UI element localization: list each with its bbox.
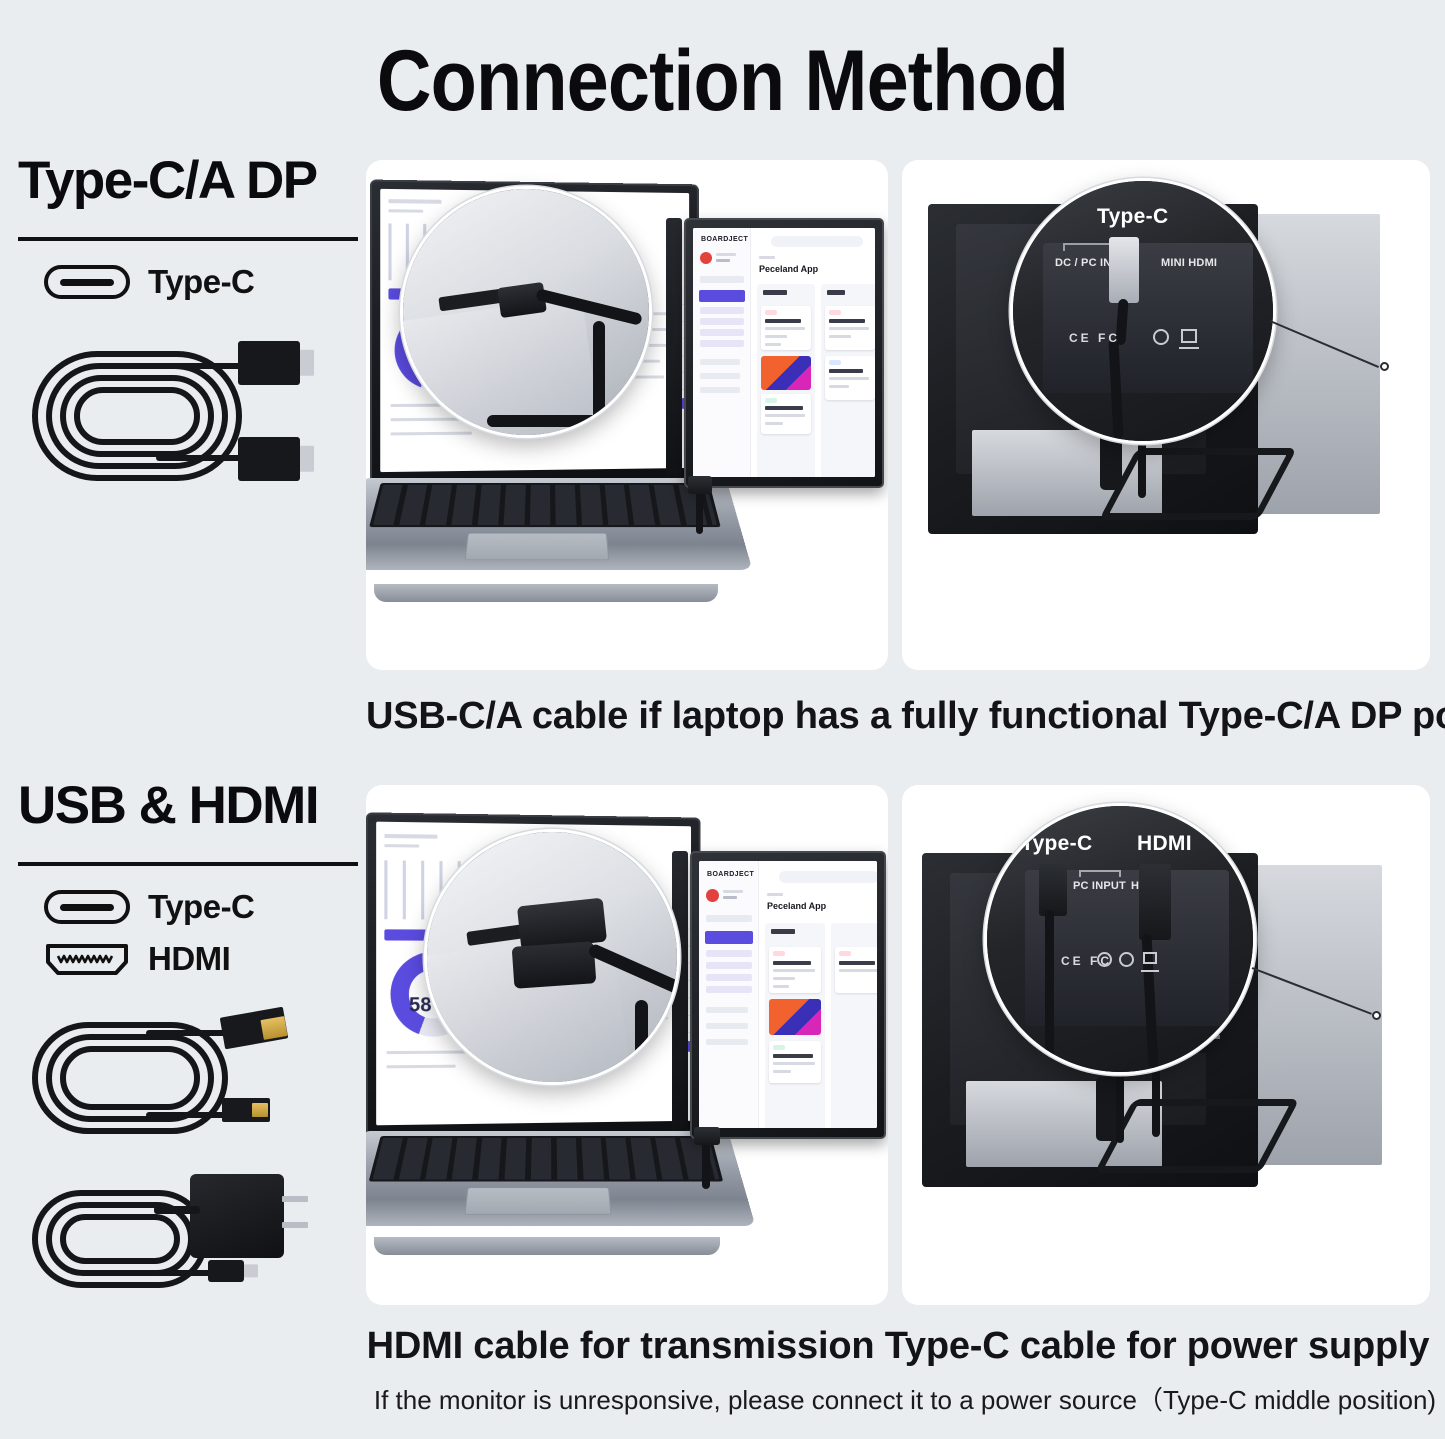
section-2-heading: USB & HDMI: [18, 775, 358, 836]
photo-monitor-rear-typec: Type-C DC / PC IN MINI HDMI CE FC: [902, 160, 1430, 670]
port-row-hdmi: HDMI: [18, 940, 358, 978]
cert-marks: CE FC: [1069, 331, 1120, 345]
section-1-caption: USB-C/A cable if laptop has a fully func…: [366, 695, 1430, 738]
section-2-divider: [18, 862, 358, 866]
port-mark-pc-input: PC INPUT: [1073, 880, 1126, 892]
hdmi-cable-illustration: [18, 1004, 358, 1154]
zoom-label-hdmi: HDMI: [1137, 832, 1192, 856]
section-usb-and-hdmi: USB & HDMI Type-C HDMI: [0, 775, 1445, 1435]
port-mark-dc-pc-in: DC / PC IN: [1055, 257, 1111, 269]
photo-laptop-monitor-hdmi: 58%: [366, 785, 888, 1305]
zoom-target-dot: [1372, 1011, 1381, 1020]
app-brand: BOARDJECT: [701, 236, 748, 243]
port-row-type-c: Type-C: [18, 263, 358, 301]
photo-laptop-monitor-typec: 58%: [366, 160, 888, 670]
port-mark-mini-hdmi: MINI HDMI: [1161, 257, 1217, 269]
zoom-target-dot: [1380, 362, 1389, 371]
section-2-caption: HDMI cable for transmission Type-C cable…: [366, 1325, 1430, 1368]
section-2-port-list: Type-C HDMI: [18, 888, 358, 978]
zoom-bubble-laptop-port: [400, 186, 652, 438]
port-row-type-c: Type-C: [18, 888, 358, 926]
zoom-label-type-c: Type-C: [1021, 832, 1092, 856]
boardject-app-ui: BOARDJECT: [693, 228, 875, 477]
section-2-subcaption: If the monitor is unresponsive, please c…: [366, 1380, 1444, 1417]
section-1-port-list: Type-C: [18, 263, 358, 301]
zoom-bubble-rear-ports-typec: Type-C DC / PC IN MINI HDMI CE FC: [1010, 178, 1276, 444]
photo-monitor-rear-typec-hdmi: Type-C HDMI PC INPUT H CE FC: [902, 785, 1430, 1305]
port-label-type-c: Type-C: [148, 888, 254, 926]
portable-monitor-screen: BOARDJECT: [684, 218, 884, 488]
section-1-heading: Type-C/A DP: [18, 150, 358, 211]
section-type-c-a-dp: Type-C/A DP Type-C: [0, 150, 1445, 770]
boardject-app-ui: BOARDJECT: [699, 861, 877, 1128]
zoom-bubble-laptop-usb-plug: [424, 829, 680, 1085]
port-mark-hdmi-short: H: [1131, 880, 1139, 892]
section-1-divider: [18, 237, 358, 241]
app-brand: BOARDJECT: [707, 871, 754, 878]
type-c-port-icon: [44, 265, 130, 299]
usb-c-cable-illustration: [18, 327, 358, 517]
page-title: Connection Method: [87, 0, 1359, 124]
port-label-hdmi: HDMI: [148, 940, 230, 978]
section-1-sidebar: Type-C/A DP Type-C: [18, 150, 358, 517]
power-adapter-illustration: [18, 1164, 358, 1304]
infographic-board: Connection Method Type-C/A DP Type-C: [0, 0, 1445, 1439]
port-label-type-c: Type-C: [148, 263, 254, 301]
hdmi-port-icon: [44, 940, 130, 978]
type-c-port-icon: [44, 890, 130, 924]
zoom-bubble-rear-ports-typec-hdmi: Type-C HDMI PC INPUT H CE FC: [984, 803, 1256, 1075]
board-title: Peceland App: [759, 264, 818, 274]
section-2-sidebar: USB & HDMI Type-C HDMI: [18, 775, 358, 1304]
board-title: Peceland App: [767, 901, 826, 911]
zoom-label-type-c: Type-C: [1097, 205, 1168, 229]
portable-monitor-screen: BOARDJECT: [690, 851, 886, 1139]
